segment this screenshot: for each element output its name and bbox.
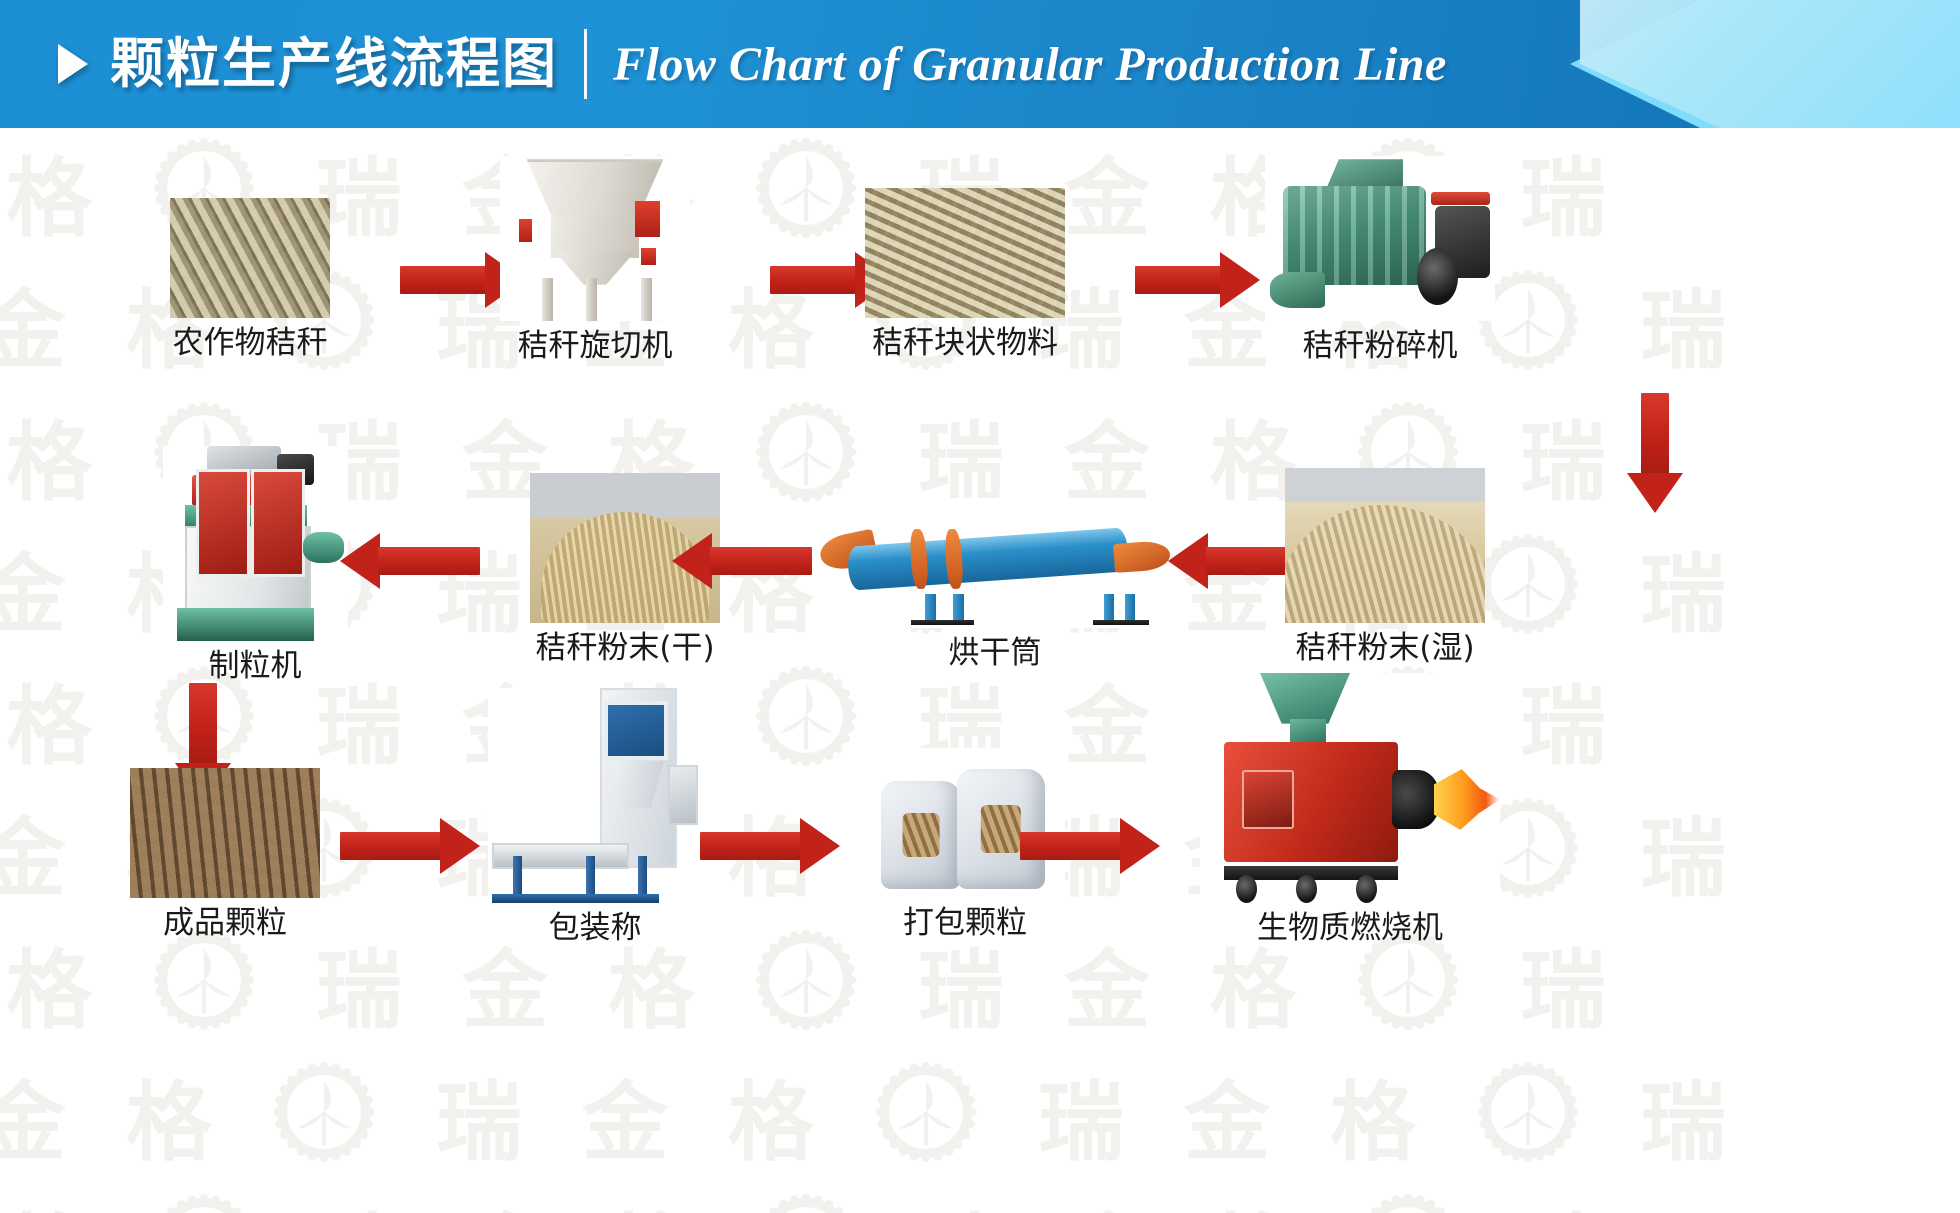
flow-node-straw-chunk-material[interactable]: 秸秆块状物料 — [845, 188, 1085, 360]
flow-node-label: 秸秆粉碎机 — [1230, 329, 1530, 363]
flow-node-biomass-burner[interactable]: 生物质燃烧机 — [1150, 673, 1550, 945]
flow-node-label: 生物质燃烧机 — [1150, 911, 1550, 945]
flow-node-finished-pellets[interactable]: 成品颗粒 — [110, 768, 340, 940]
flow-node-label: 烘干筒 — [800, 636, 1190, 670]
page-title-cn: 颗粒生产线流程图 — [110, 37, 558, 91]
flow-node-label: 秸秆粉末(干) — [505, 631, 745, 665]
flow-node-straw-powder-wet[interactable]: 秸秆粉末(湿) — [1230, 468, 1540, 665]
straw-crusher-photo — [1265, 156, 1495, 321]
arrow-4 — [1627, 393, 1683, 513]
flow-node-label: 成品颗粒 — [110, 906, 340, 940]
straw-chunk-material-photo — [865, 188, 1065, 318]
page-header: 颗粒生产线流程图 Flow Chart of Granular Producti… — [0, 0, 1960, 128]
finished-pellets-photo — [130, 768, 320, 898]
flow-node-crop-straw[interactable]: 农作物秸秆 — [150, 198, 350, 360]
flow-diagram: 农作物秸秆 秸秆旋切机 秸秆块状物料 — [0, 128, 1960, 1213]
play-triangle-icon — [58, 44, 88, 84]
flow-node-label: 秸秆旋切机 — [470, 329, 720, 363]
biomass-burner-photo — [1200, 673, 1500, 903]
flow-node-label: 农作物秸秆 — [150, 326, 350, 360]
arrow-6 — [672, 533, 812, 589]
flow-node-packing-scale[interactable]: 包装称 — [455, 688, 735, 945]
crop-straw-photo — [170, 198, 330, 318]
flow-node-label: 制粒机 — [120, 649, 390, 683]
flow-node-label: 打包颗粒 — [840, 906, 1090, 940]
packing-scale-photo — [488, 688, 703, 903]
flow-node-drying-drum[interactable]: 烘干筒 — [800, 498, 1190, 670]
arrow-7 — [340, 533, 480, 589]
page-title-en: Flow Chart of Granular Production Line — [613, 37, 1447, 92]
arrow-10 — [700, 818, 840, 874]
straw-powder-wet-photo — [1285, 468, 1485, 623]
flow-node-label: 秸秆块状物料 — [845, 326, 1085, 360]
straw-rotary-cutter-photo — [500, 156, 690, 321]
flow-node-straw-crusher[interactable]: 秸秆粉碎机 — [1230, 156, 1530, 363]
flow-node-straw-rotary-cutter[interactable]: 秸秆旋切机 — [470, 156, 720, 363]
pellet-mill-photo — [163, 446, 348, 641]
drying-drum-photo — [820, 498, 1170, 628]
arrow-11 — [1020, 818, 1160, 874]
title-divider — [584, 29, 587, 99]
flow-node-label: 秸秆粉末(湿) — [1230, 631, 1540, 665]
flow-node-label: 包装称 — [455, 911, 735, 945]
